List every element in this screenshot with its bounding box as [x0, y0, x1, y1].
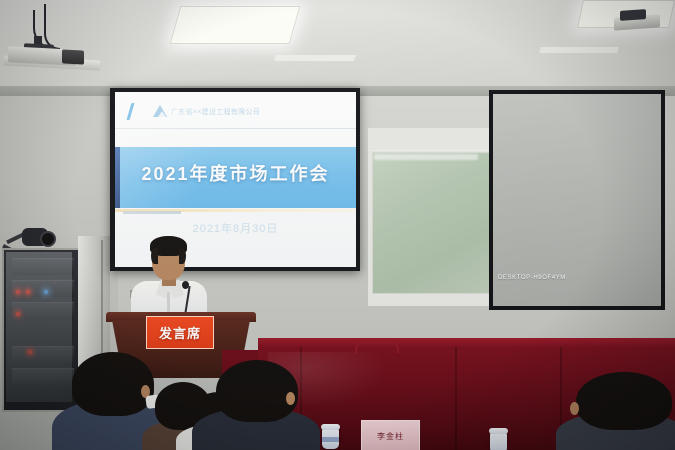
board-glare: [374, 154, 478, 160]
name-placard-text: 李金柱: [377, 431, 404, 442]
slide-date: 2021年8月30日: [115, 220, 356, 236]
slide-title: 2021年度市场工作会: [115, 160, 356, 186]
slide-accent-line-short: [123, 211, 181, 214]
ceiling-light-strip: [274, 55, 356, 61]
company-logo-text: 广东省××建设工程有限公司: [171, 107, 260, 117]
camera-lens-icon: [40, 231, 56, 247]
teacup-lid: [321, 424, 340, 430]
teacup-pattern: [322, 437, 339, 442]
microphone-icon: [182, 281, 189, 289]
projector-icon: [620, 9, 646, 21]
audience-ear: [570, 402, 579, 415]
audience-head: [216, 360, 298, 422]
teacup-lid: [489, 428, 508, 434]
speaker-hair-side: [179, 248, 186, 264]
speaker-hair-side: [151, 248, 158, 264]
green-writing-board: [372, 152, 490, 294]
company-logo-inner-icon: [158, 111, 166, 117]
name-placard: 李金柱: [361, 420, 420, 450]
podium-sign-text: 发言席: [159, 323, 201, 342]
audience-ear: [286, 392, 295, 405]
podium-sign: 发言席: [146, 316, 214, 349]
teacup: [490, 432, 507, 450]
audience-head: [72, 352, 154, 416]
head-table-edge: [258, 338, 675, 347]
projector-lens-icon: [62, 49, 84, 64]
rack-glass-door: [6, 252, 72, 402]
conference-room-photo: 广东省××建设工程有限公司 2021年度市场工作会 2021年8月30日 DES…: [0, 0, 675, 450]
table-skirt-fold: [455, 347, 457, 450]
computer-name-label: DESKTOP-H9OF4YM: [498, 275, 566, 281]
logo-slash-icon: [127, 103, 135, 120]
audience-head: [576, 372, 672, 430]
ceiling-light-panel: [170, 6, 301, 44]
ceiling-light-strip: [539, 47, 618, 53]
slide-header-rule: [115, 128, 356, 129]
projector-cable: [44, 4, 60, 50]
